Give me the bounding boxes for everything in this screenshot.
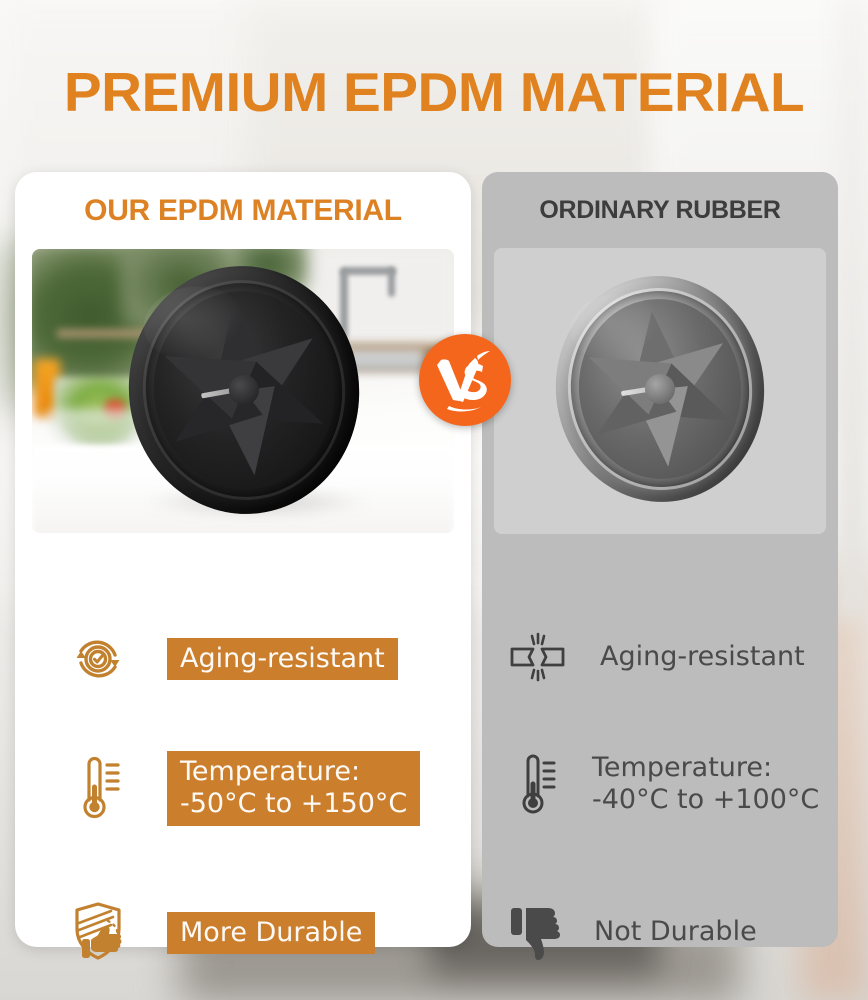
comparison-card-ours: OUR EPDM MATERIAL — [15, 172, 471, 947]
feature-label: Aging-resistant — [167, 638, 398, 681]
feature-label: More Durable — [167, 912, 375, 955]
feature-row-durable-ordinary: Not Durable — [508, 903, 757, 961]
shield-thumbs-up-icon — [67, 901, 133, 965]
feature-row-aging-ordinary: Aging-resistant — [508, 629, 805, 685]
splash-guard-ordinary — [545, 266, 775, 513]
comparison-card-ordinary: ORDINARY RUBBER — [482, 172, 838, 947]
feature-row-temperature-ours: Temperature: -50°C to +150°C — [67, 751, 420, 826]
feature-label: Temperature: -50°C to +150°C — [167, 751, 420, 826]
thumbs-down-icon — [508, 903, 568, 961]
splash-guard-ours — [115, 253, 374, 527]
feature-label: Temperature: -40°C to +100°C — [592, 752, 819, 816]
card-header-ordinary: ORDINARY RUBBER — [482, 172, 838, 225]
cracked-bar-icon — [508, 629, 568, 685]
product-photo-ordinary — [494, 248, 826, 534]
thermometer-icon — [508, 748, 566, 820]
vs-badge — [419, 334, 511, 426]
page-title: PREMIUM EPDM MATERIAL — [0, 60, 868, 124]
refresh-check-icon — [67, 628, 129, 690]
product-photo-ours — [32, 249, 454, 533]
feature-label: Aging-resistant — [600, 641, 805, 673]
feature-row-aging-ours: Aging-resistant — [67, 628, 398, 690]
card-header-ours: OUR EPDM MATERIAL — [15, 172, 471, 228]
thermometer-icon — [67, 752, 129, 824]
feature-row-temperature-ordinary: Temperature: -40°C to +100°C — [508, 748, 819, 820]
feature-label: Not Durable — [594, 916, 757, 948]
feature-row-durable-ours: More Durable — [67, 901, 375, 965]
